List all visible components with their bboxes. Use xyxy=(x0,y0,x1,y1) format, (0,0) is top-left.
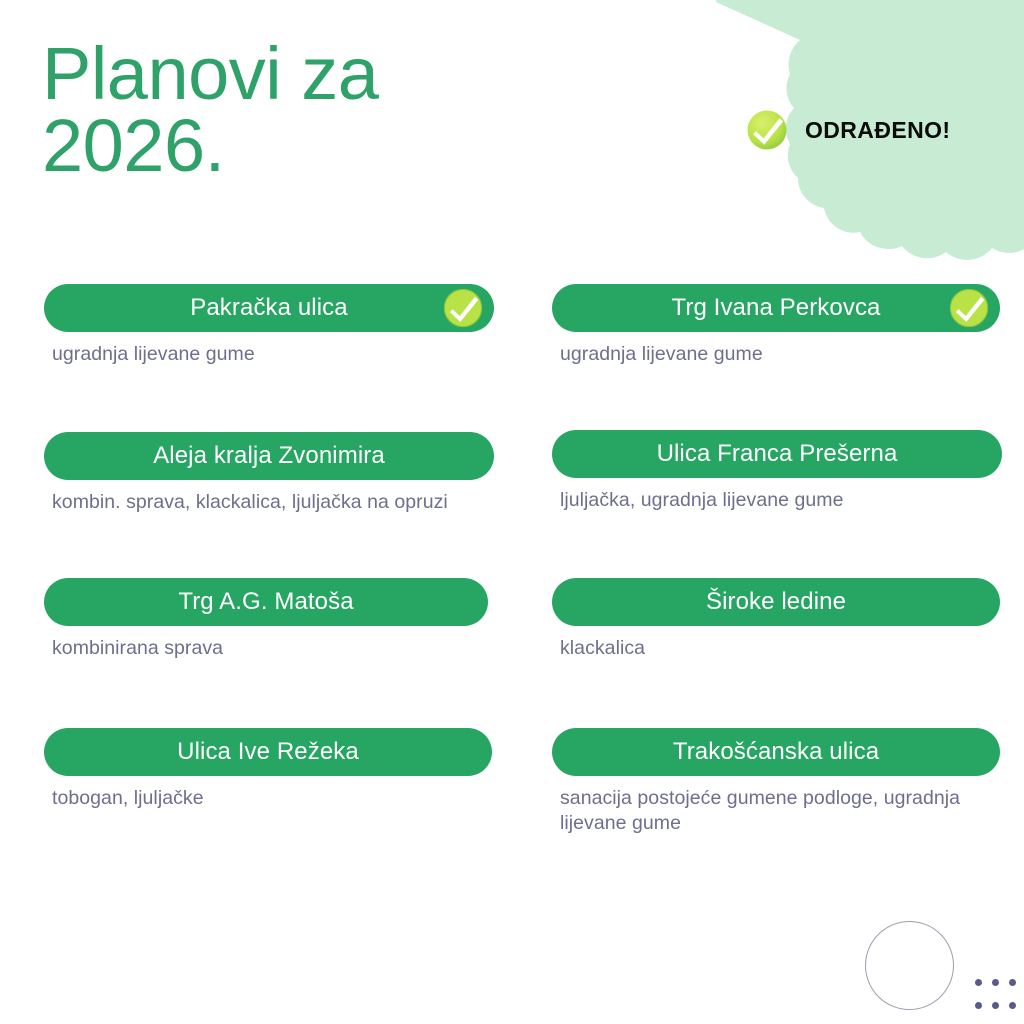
plan-pill-label: Trg Ivana Perkovca xyxy=(672,294,881,322)
plan-pill[interactable]: Ulica Franca Prešerna xyxy=(552,430,1002,478)
check-circle-icon xyxy=(948,287,990,329)
plan-caption: sanacija postojeće gumene podloge, ugrad… xyxy=(552,786,1012,836)
plan-pill-label: Pakračka ulica xyxy=(190,294,347,322)
plan-pill-label: Trg A.G. Matoša xyxy=(178,588,353,616)
plan-pill[interactable]: Trakošćanska ulica xyxy=(552,728,1000,776)
dot xyxy=(1009,1002,1016,1009)
legend-label: ODRAĐENO! xyxy=(805,117,950,144)
plan-pill-label: Aleja kralja Zvonimira xyxy=(153,442,385,470)
plan-entry: Trg Ivana Perkovca ugradnja lijevane gum… xyxy=(552,284,1012,367)
plan-entry: Trakošćanska ulicasanacija postojeće gum… xyxy=(552,728,1012,836)
dot xyxy=(992,1002,999,1009)
plan-entry: Trg A.G. Matošakombinirana sprava xyxy=(44,578,504,661)
dot xyxy=(975,1002,982,1009)
plan-pill[interactable]: Trg Ivana Perkovca xyxy=(552,284,1000,332)
check-circle-icon xyxy=(745,108,789,152)
plan-pill[interactable]: Ulica Ive Režeka xyxy=(44,728,492,776)
dot xyxy=(1009,979,1016,986)
plan-entry: Ulica Ive Režekatobogan, ljuljačke xyxy=(44,728,504,811)
plan-entry: Ulica Franca Prešernaljuljačka, ugradnja… xyxy=(552,430,1012,513)
plan-pill-label: Trakošćanska ulica xyxy=(673,738,879,766)
plan-pill-label: Ulica Franca Prešerna xyxy=(657,440,898,468)
check-circle-icon xyxy=(442,287,484,329)
plan-caption: kombin. sprava, klackalica, ljuljačka na… xyxy=(44,490,504,515)
plan-caption: klackalica xyxy=(552,636,1012,661)
plan-pill[interactable]: Široke ledine xyxy=(552,578,1000,626)
plan-entry: Pakračka ulica ugradnja lijevane gume xyxy=(44,284,504,367)
dot-grid-decoration xyxy=(975,979,1024,1024)
outline-circle-decoration xyxy=(865,921,954,1010)
plan-entry: Široke ledineklackalica xyxy=(552,578,1012,661)
plan-pill-label: Ulica Ive Režeka xyxy=(177,738,359,766)
plan-caption: ugradnja lijevane gume xyxy=(552,342,1012,367)
plan-caption: tobogan, ljuljačke xyxy=(44,786,504,811)
plan-caption: ljuljačka, ugradnja lijevane gume xyxy=(552,488,1012,513)
infographic-canvas: Planovi za 2026. ODRAĐENO! Pakračka ulic… xyxy=(0,0,1024,1024)
plan-pill[interactable]: Trg A.G. Matoša xyxy=(44,578,488,626)
dot xyxy=(992,979,999,986)
page-title: Planovi za 2026. xyxy=(42,38,512,182)
plan-pill-label: Široke ledine xyxy=(706,588,846,616)
plan-pill[interactable]: Pakračka ulica xyxy=(44,284,494,332)
plan-pill[interactable]: Aleja kralja Zvonimira xyxy=(44,432,494,480)
plan-entry: Aleja kralja Zvonimirakombin. sprava, kl… xyxy=(44,432,504,515)
dot xyxy=(975,979,982,986)
plan-caption: ugradnja lijevane gume xyxy=(44,342,504,367)
plan-caption: kombinirana sprava xyxy=(44,636,504,661)
legend-done: ODRAĐENO! xyxy=(745,108,950,152)
